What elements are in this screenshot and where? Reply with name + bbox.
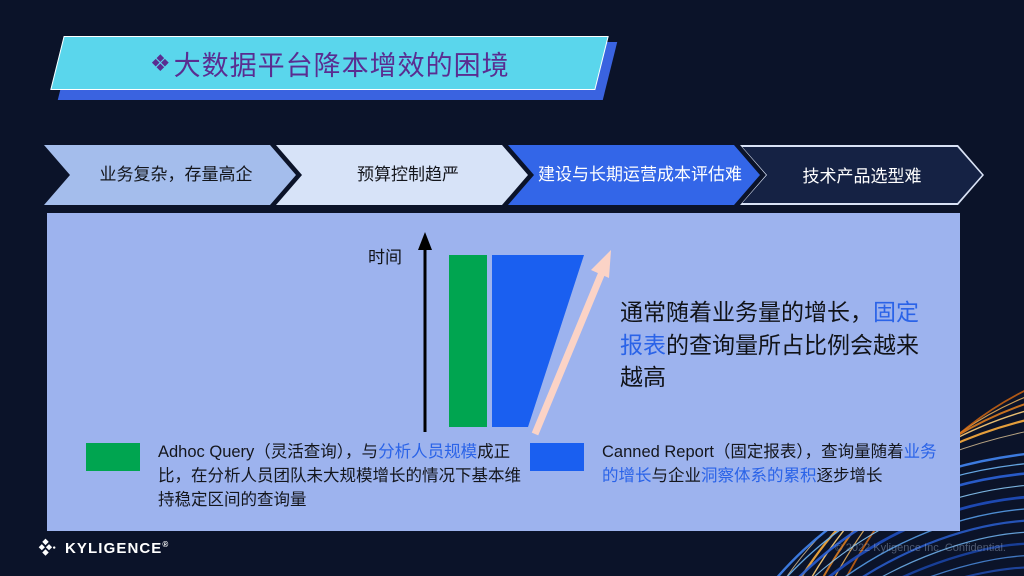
legend-swatch-green xyxy=(86,443,140,471)
legend-right-seg3: 与企业 xyxy=(652,467,702,485)
chart-bar-adhoc-query xyxy=(449,255,487,427)
page-title-text: 大数据平台降本增效的困境 xyxy=(174,44,510,83)
callout-paragraph: 通常随着业务量的增长，固定报表的查询量所占比例会越来越高 xyxy=(620,296,940,394)
growth-trend-arrow-icon xyxy=(519,248,624,438)
brand-name-text: KYLIGENCE xyxy=(65,540,162,557)
time-axis-arrow-icon xyxy=(412,232,438,432)
brand-name: KYLIGENCE® xyxy=(65,540,169,557)
legend-left-seg1: Adhoc Query（灵活查询），与 xyxy=(158,443,378,461)
process-step-2[interactable]: 预算控制趋严 xyxy=(276,145,528,205)
legend-right-seg1: Canned Report（固定报表），查询量随着 xyxy=(602,443,904,461)
page-title: ❖ 大数据平台降本增效的困境 xyxy=(150,36,510,90)
legend-left-highlight: 分析人员规模 xyxy=(378,443,477,461)
copyright-text: © 2022 Kyligence Inc. Confidential. xyxy=(835,542,1006,554)
legend-item-canned-report: Canned Report（固定报表），查询量随着业务的增长与企业洞察体系的累积… xyxy=(530,441,950,489)
process-chevron-bar: 业务复杂，存量高企 预算控制趋严 建设与长期运营成本评估难 技术产品选型难 xyxy=(44,145,984,205)
legend-item-adhoc-query: Adhoc Query（灵活查询），与分析人员规模成正比，在分析人员团队未大规模… xyxy=(86,441,526,513)
kyligence-diamond-icon xyxy=(38,538,58,558)
legend-swatch-blue xyxy=(530,443,584,471)
process-step-4[interactable]: 技术产品选型难 xyxy=(742,147,982,204)
footer-brand-logo: KYLIGENCE® xyxy=(38,538,169,558)
process-step-1[interactable]: 业务复杂，存量高企 xyxy=(44,145,296,205)
legend-text-canned-report: Canned Report（固定报表），查询量随着业务的增长与企业洞察体系的累积… xyxy=(602,441,950,489)
legend-right-seg5: 逐步增长 xyxy=(817,467,883,485)
title-banner: ❖ 大数据平台降本增效的困境 xyxy=(55,36,615,98)
process-step-3[interactable]: 建设与长期运营成本评估难 xyxy=(508,145,760,205)
slide-root: ❖ 大数据平台降本增效的困境 业务复杂，存量高企 预算控制趋严 建设与长期运营成… xyxy=(0,0,1024,576)
callout-part1: 通常随着业务量的增长， xyxy=(620,299,873,325)
chart-axis-label-time: 时间 xyxy=(368,243,402,268)
diamond-bullet-icon: ❖ xyxy=(150,50,172,77)
legend-text-adhoc-query: Adhoc Query（灵活查询），与分析人员规模成正比，在分析人员团队未大规模… xyxy=(158,441,526,513)
legend-right-highlight2: 洞察体系的累积 xyxy=(701,467,817,485)
registered-mark: ® xyxy=(162,540,169,549)
